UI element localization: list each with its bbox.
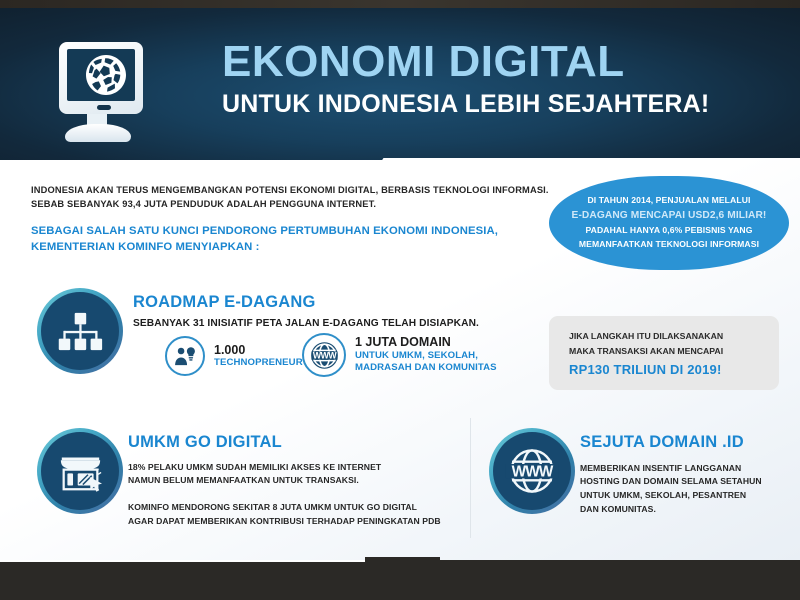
footer-bar: www.kominfo.go.id @Kemkominfo #Indonesia… [0, 562, 800, 600]
roadmap-icon-badge [37, 288, 123, 374]
greybox-line-2: MAKA TRANSAKSI AKAN MENCAPAI [569, 344, 779, 358]
umkm-text-block: UMKM GO DIGITAL 18% PELAKU UMKM SUDAH ME… [128, 434, 458, 529]
header-banner: EKONOMI DIGITAL UNTUK INDONESIA LEBIH SE… [0, 8, 800, 160]
svg-text:WWW: WWW [312, 350, 336, 360]
top-strip [0, 0, 800, 8]
org-chart-icon [41, 292, 119, 370]
infographic-page: EKONOMI DIGITAL UNTUK INDONESIA LEBIH SE… [0, 0, 800, 600]
intro-highlight-2: KEMENTERIAN KOMINFO MENYIAPKAN : [31, 239, 551, 255]
www-globe-icon: WWW [493, 432, 571, 510]
callout-line-1: DI TAHUN 2014, PENJUALAN MELALUI [572, 194, 767, 208]
sejuta-icon-badge: WWW [489, 428, 575, 514]
monitor-indicator [97, 105, 111, 110]
intro-text-block: INDONESIA AKAN TERUS MENGEMBANGKAN POTEN… [31, 183, 551, 256]
callout-line-4: MEMANFAATKAN TEKNOLOGI INFORMASI [572, 238, 767, 252]
umkm-p2-line-1: KOMINFO MENDORONG SEKITAR 8 JUTA UMKM UN… [128, 501, 458, 515]
umkm-title: UMKM GO DIGITAL [128, 434, 458, 451]
monitor-screen [59, 42, 143, 114]
sejuta-line-4: DAN KOMUNITAS. [580, 503, 795, 517]
monitor-globe-icon [47, 42, 147, 146]
sejuta-text-block: SEJUTA DOMAIN .ID MEMBERIKAN INSENTIF LA… [580, 434, 795, 517]
roadmap-title: ROADMAP E-DAGANG [133, 294, 533, 311]
sejuta-line-1: MEMBERIKAN INSENTIF LANGGANAN [580, 462, 795, 476]
globe-icon [85, 54, 127, 96]
sejuta-line-3: UNTUK UMKM, SEKOLAH, PESANTREN [580, 489, 795, 503]
domain-number: 1 JUTA DOMAIN [355, 335, 497, 349]
umkm-p1-line-2: NAMUN BELUM MEMANFAATKAN UNTUK TRANSAKSI… [128, 474, 458, 488]
intro-line-1: INDONESIA AKAN TERUS MENGEMBANGKAN POTEN… [31, 183, 551, 197]
ecommerce-stat-callout: DI TAHUN 2014, PENJUALAN MELALUI E-DAGAN… [549, 176, 789, 270]
section-divider [470, 418, 471, 538]
technopreneur-icon [165, 336, 205, 376]
transaction-projection-box: JIKA LANGKAH ITU DILAKSANAKAN MAKA TRANS… [549, 316, 779, 390]
roadmap-lead: SEBANYAK 31 INISIATIF PETA JALAN E-DAGAN… [133, 318, 533, 329]
page-title: EKONOMI DIGITAL [222, 40, 762, 84]
greybox-line-1: JIKA LANGKAH ITU DILAKSANAKAN [569, 329, 779, 343]
technopreneur-caption: TECHNOPRENEUR [214, 357, 303, 369]
domain-caption-2: MADRASAH DAN KOMUNITAS [355, 362, 497, 374]
sejuta-title: SEJUTA DOMAIN .ID [580, 434, 795, 451]
svg-text:WWW: WWW [512, 464, 554, 481]
callout-line-3: PADAHAL HANYA 0,6% PEBISNIS YANG [572, 224, 767, 238]
domain-caption-1: UNTUK UMKM, SEKOLAH, [355, 350, 497, 362]
sejuta-line-2: HOSTING DAN DOMAIN SELAMA SETAHUN [580, 475, 795, 489]
stat-technopreneur: 1.000 TECHNOPRENEUR [165, 336, 303, 376]
stat-domain: WWW 1 JUTA DOMAIN UNTUK UMKM, SEKOLAH, M… [302, 333, 497, 377]
callout-line-2: E-DAGANG MENCAPAI USD2,6 MILIAR! [572, 208, 767, 225]
greybox-highlight: RP130 TRILIUN DI 2019! [569, 362, 779, 377]
technopreneur-number: 1.000 [214, 343, 303, 357]
roadmap-text-block: ROADMAP E-DAGANG SEBANYAK 31 INISIATIF P… [133, 294, 533, 329]
page-subtitle: UNTUK INDONESIA LEBIH SEJAHTERA! [222, 92, 762, 117]
umkm-p2-line-2: AGAR DAPAT MEMBERIKAN KONTRIBUSI TERHADA… [128, 515, 458, 529]
monitor-stand-base [65, 124, 131, 142]
www-globe-icon: WWW [302, 333, 346, 377]
umkm-p1-line-1: 18% PELAKU UMKM SUDAH MEMILIKI AKSES KE … [128, 461, 458, 475]
storefront-cursor-icon [41, 432, 119, 510]
header-title-block: EKONOMI DIGITAL UNTUK INDONESIA LEBIH SE… [222, 40, 762, 117]
intro-line-2: SEBAB SEBANYAK 93,4 JUTA PENDUDUK ADALAH… [31, 197, 551, 211]
intro-highlight-1: SEBAGAI SALAH SATU KUNCI PENDORONG PERTU… [31, 223, 551, 239]
umkm-icon-badge [37, 428, 123, 514]
